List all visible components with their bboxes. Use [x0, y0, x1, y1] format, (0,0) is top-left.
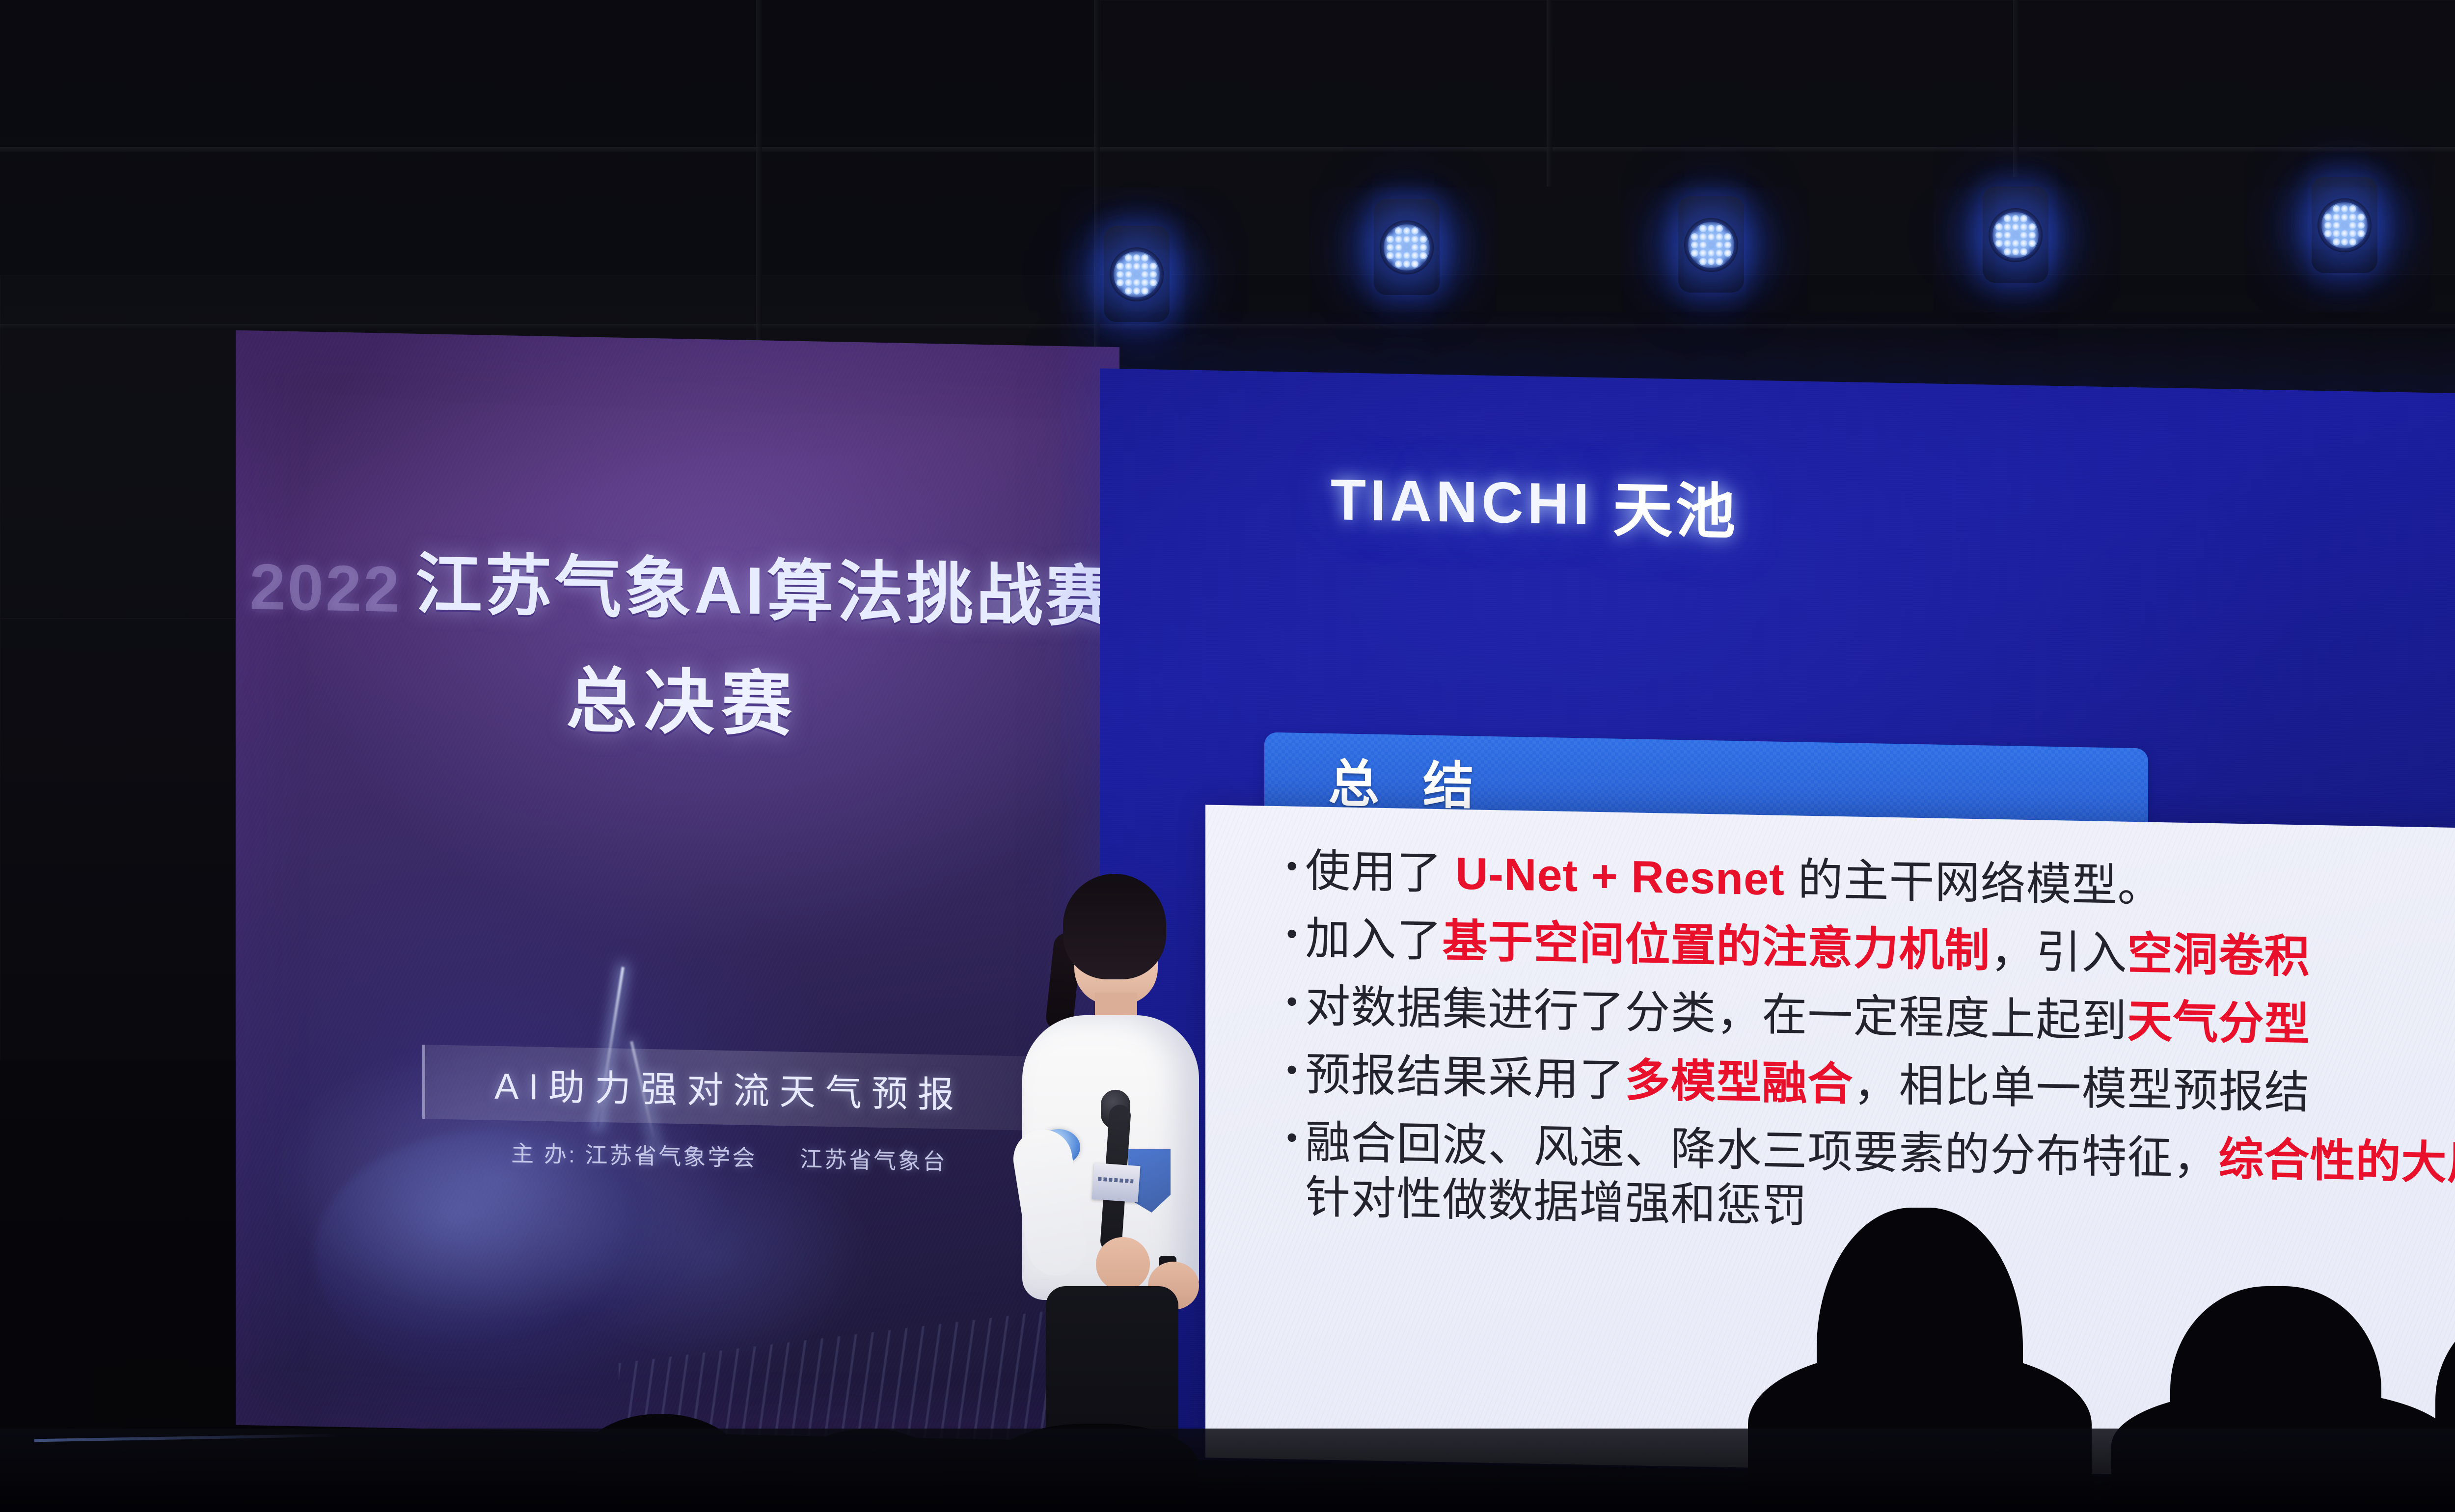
- stage-light: [1095, 226, 1178, 329]
- led-array: [1992, 212, 2039, 258]
- highlighted-term: 性的大风和强降水: [2310, 1135, 2455, 1192]
- list-item: • 对数据集进行了分类，在一定程度上起到天气分型: [1286, 979, 2455, 1061]
- stage-light: [1669, 196, 1753, 299]
- led-array: [2321, 202, 2368, 248]
- highlighted-term: 天气分型: [2127, 997, 2310, 1050]
- plain-term: 融合回波、风速、降水三项要素的分布特征，: [1305, 1117, 2218, 1184]
- bullet-marker: •: [1286, 843, 1297, 889]
- event-backdrop-poster: 2022 江苏气象AI算法挑战赛 总决赛 AI助力强对流天气预报 主 办: 江苏…: [236, 330, 1119, 1442]
- bullet-marker: •: [1286, 1047, 1297, 1092]
- lighting-truss: [0, 147, 2455, 152]
- poster-subtitle: AI助力强对流天气预报: [422, 1045, 1036, 1131]
- highlighted-term: 空洞卷积: [2127, 929, 2310, 982]
- plain-term: 预报结果采用了: [1305, 1050, 1625, 1106]
- stage-light: [1974, 187, 2057, 290]
- tianchi-logo: TIANCHI 天池: [1331, 456, 1739, 550]
- highlighted-term: 多模型融合: [1625, 1055, 1853, 1110]
- plain-term: ，引入: [1990, 926, 2127, 979]
- plain-term: 加入了: [1305, 914, 1442, 966]
- poster-title-line1: 江苏气象AI算法挑战赛: [415, 530, 1116, 640]
- highlighted-term: 综合: [2218, 1134, 2310, 1186]
- stage-floor: [0, 1429, 2455, 1512]
- organizer-label: 主 办:: [511, 1140, 577, 1167]
- logo-text-cn: 天池: [1613, 461, 1739, 551]
- truss-upright: [2013, 0, 2019, 177]
- presenter-hair: [1063, 874, 1166, 979]
- plain-term: 对数据集进行了分类，在一定程度上起到: [1305, 982, 2127, 1047]
- list-item: • 预报结果采用了多模型融合，相比单一模型预报结: [1286, 1047, 2455, 1129]
- highlighted-term: U-Net + Resnet: [1455, 849, 1785, 905]
- bullet-marker: •: [1286, 911, 1297, 957]
- lighting-truss: [0, 324, 2455, 329]
- presenter-hand: [1096, 1237, 1150, 1291]
- wall-panel: [1100, 0, 2455, 275]
- bullet-marker: •: [1286, 979, 1297, 1025]
- wall-panel: [0, 619, 236, 1060]
- highlighted-term: 基于空间位置的注意力机制: [1442, 916, 1990, 976]
- logo-text-en: TIANCHI: [1331, 466, 1593, 538]
- stage-photo: 2022 江苏气象AI算法挑战赛 总决赛 AI助力强对流天气预报 主 办: 江苏…: [0, 0, 2455, 1512]
- stage-light: [1365, 199, 1448, 302]
- organizer-name-1: 江苏省气象学会: [585, 1142, 757, 1171]
- poster-year: 2022: [249, 549, 402, 626]
- plain-term: 使用了: [1305, 846, 1455, 899]
- microphone-flag: [1092, 1163, 1141, 1202]
- summary-bullet-list: • 使用了 U-Net + Resnet 的主干网络模型。 • 加入了基于空间位…: [1286, 843, 2455, 1264]
- led-array: [1114, 251, 1160, 297]
- plain-term: ，相比单一模型预报结: [1853, 1059, 2310, 1118]
- poster-title-line2: 总决赛: [265, 638, 1100, 756]
- plain-term: 的主干网络模型。: [1785, 855, 2163, 912]
- bullet-text: 对数据集进行了分类，在一定程度上起到天气分型: [1305, 979, 2310, 1053]
- led-array: [1688, 222, 1734, 268]
- poster-title-block: 2022 江苏气象AI算法挑战赛 总决赛: [265, 527, 1100, 756]
- led-array: [1384, 224, 1430, 270]
- presenter: [992, 874, 1223, 1512]
- list-item: • 加入了基于空间位置的注意力机制，引入空洞卷积: [1286, 911, 2455, 993]
- bullet-text: 加入了基于空间位置的注意力机制，引入空洞卷积: [1305, 911, 2310, 985]
- bullet-text: 预报结果采用了多模型融合，相比单一模型预报结: [1305, 1047, 2310, 1121]
- organizer-name-2: 江苏省气象台: [800, 1146, 947, 1175]
- truss-upright: [1547, 0, 1553, 187]
- stage-light: [2303, 177, 2386, 280]
- truss-upright: [756, 0, 762, 363]
- bullet-marker: •: [1286, 1114, 1297, 1160]
